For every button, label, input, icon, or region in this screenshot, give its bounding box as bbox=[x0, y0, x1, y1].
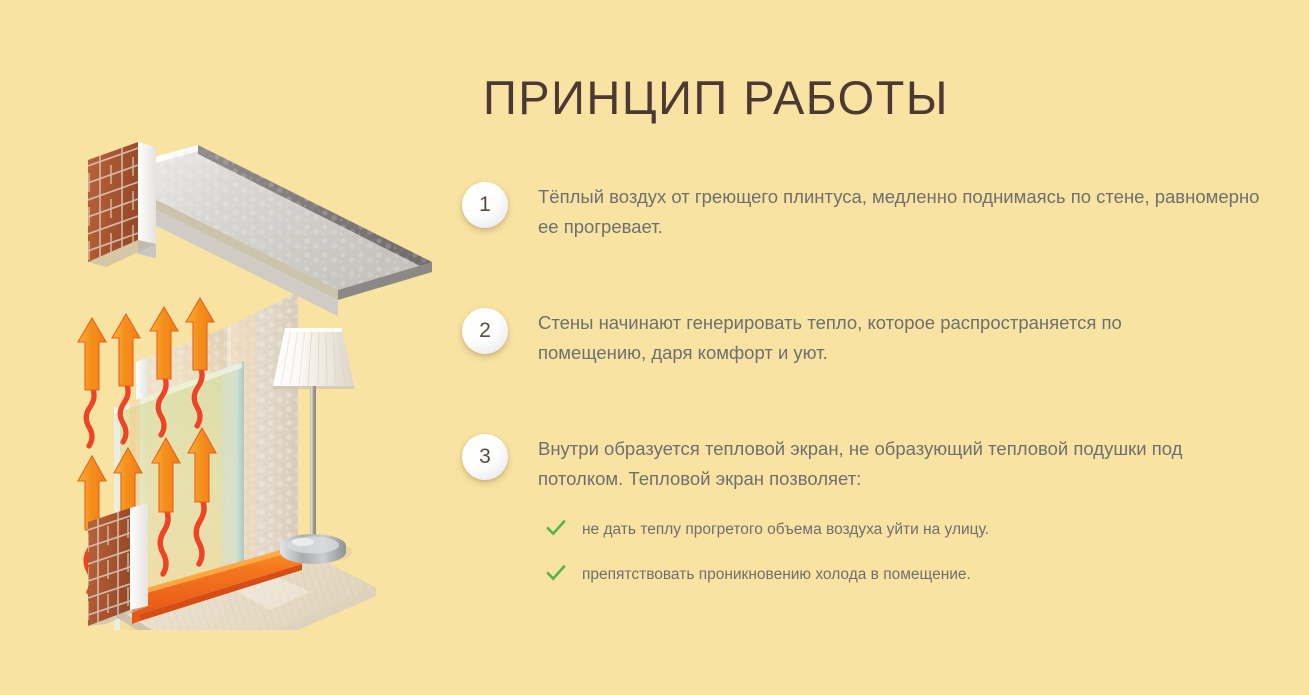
benefit-item-1: не дать теплу прогретого объема воздуха … bbox=[538, 518, 1262, 541]
brick-wall-edge-top bbox=[82, 142, 156, 270]
page-root: ПРИНЦИП РАБОТЫ 1 Тёплый воздух от греюще… bbox=[0, 0, 1309, 695]
content-column: ПРИНЦИП РАБОТЫ 1 Тёплый воздух от греюще… bbox=[462, 72, 1262, 586]
benefit-text-1: не дать теплу прогретого объема воздуха … bbox=[582, 521, 989, 538]
check-icon bbox=[546, 564, 566, 582]
check-icon bbox=[546, 519, 566, 537]
step-number-badge-3: 3 bbox=[462, 434, 508, 480]
page-title: ПРИНЦИП РАБОТЫ bbox=[462, 72, 1262, 124]
step-item-2: 2 Стены начинают генерировать тепло, кот… bbox=[462, 308, 1262, 368]
step-number-badge-1: 1 bbox=[462, 182, 508, 228]
lamp-shade bbox=[273, 328, 354, 389]
step-item-3: 3 Внутри образуется тепловой экран, не о… bbox=[462, 434, 1262, 586]
step-item-1: 1 Тёплый воздух от греющего плинтуса, ме… bbox=[462, 182, 1262, 242]
lamp-pole bbox=[310, 386, 316, 548]
steps-list: 1 Тёплый воздух от греющего плинтуса, ме… bbox=[462, 182, 1262, 586]
principle-illustration bbox=[70, 140, 440, 630]
step-text-2: Стены начинают генерировать тепло, котор… bbox=[538, 308, 1218, 368]
step-text-1: Тёплый воздух от греющего плинтуса, медл… bbox=[538, 182, 1262, 242]
step-number-badge-2: 2 bbox=[462, 308, 508, 354]
benefit-text-2: препятствовать проникновению холода в по… bbox=[582, 566, 971, 583]
heat-arrow bbox=[78, 318, 106, 446]
benefit-item-2: препятствовать проникновению холода в по… bbox=[538, 563, 1262, 586]
benefits-list: не дать теплу прогретого объема воздуха … bbox=[538, 518, 1262, 587]
room-cutaway-svg bbox=[70, 140, 440, 630]
lamp-base bbox=[280, 534, 346, 564]
step-text-3: Внутри образуется тепловой экран, не обр… bbox=[538, 434, 1262, 494]
